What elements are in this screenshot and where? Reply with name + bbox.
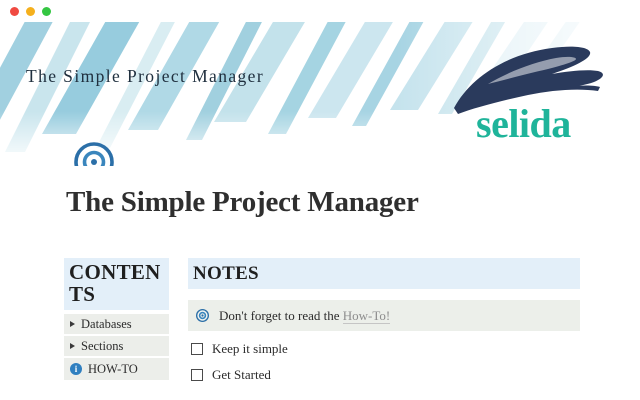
logo-wordmark: selida — [476, 104, 571, 144]
sidebar-item-how-to[interactable]: i HOW-TO — [64, 358, 169, 380]
sidebar-item-label: Sections — [81, 339, 123, 354]
todo-checkbox[interactable] — [191, 369, 203, 381]
how-to-link[interactable]: How-To! — [343, 308, 390, 324]
page-banner: The Simple Project Manager selida — [0, 22, 640, 166]
page-title: The Simple Project Manager — [66, 186, 419, 219]
selida-logo: selida — [448, 38, 618, 146]
close-button[interactable] — [10, 7, 19, 16]
banner-title: The Simple Project Manager — [26, 66, 264, 87]
todo-item[interactable]: Keep it simple — [188, 341, 580, 357]
info-circle-icon: i — [70, 363, 82, 375]
contents-list: Databases Sections i HOW-TO — [64, 314, 169, 380]
callout-text: Don't forget to read the How-To! — [219, 308, 390, 324]
triangle-right-icon — [70, 343, 75, 349]
todo-label: Get Started — [212, 367, 271, 383]
todo-checkbox[interactable] — [191, 343, 203, 355]
callout-text-lead: Don't forget to read the — [219, 308, 343, 323]
zoom-button[interactable] — [42, 7, 51, 16]
contents-panel: CONTENTS Databases Sections i HOW-TO — [64, 258, 169, 380]
sidebar-item-label: Databases — [81, 317, 132, 332]
notes-callout: Don't forget to read the How-To! — [188, 300, 580, 331]
todo-item[interactable]: Get Started — [188, 367, 580, 383]
minimize-button[interactable] — [26, 7, 35, 16]
window-controls — [10, 7, 51, 16]
sidebar-item-label: HOW-TO — [88, 362, 138, 377]
bullseye-icon — [74, 142, 114, 166]
todo-label: Keep it simple — [212, 341, 288, 357]
notes-panel: NOTES Don't forget to read the How-To! K… — [188, 258, 580, 383]
app-window: The Simple Project Manager selida The Si… — [0, 0, 640, 400]
triangle-right-icon — [70, 321, 75, 327]
sidebar-item-sections[interactable]: Sections — [64, 336, 169, 358]
bullseye-icon — [196, 309, 209, 322]
window-titlebar — [0, 0, 640, 22]
sidebar-item-databases[interactable]: Databases — [64, 314, 169, 336]
notes-heading: NOTES — [188, 258, 580, 289]
contents-heading: CONTENTS — [64, 258, 169, 310]
